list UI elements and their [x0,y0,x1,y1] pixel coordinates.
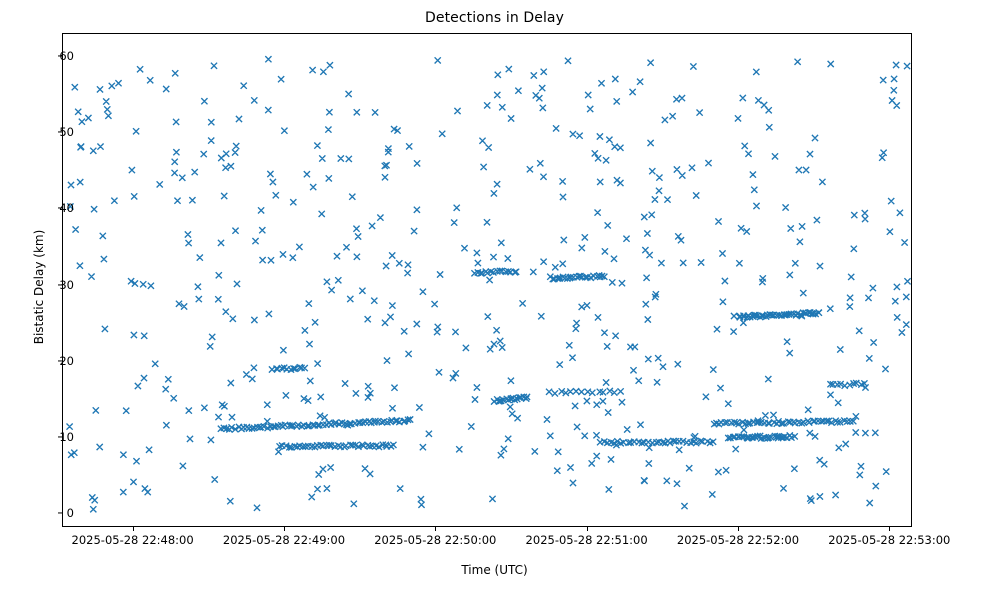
x-tick-mark [133,527,134,531]
y-tick-label-40: 40 [0,201,74,215]
y-tick-mark [58,208,62,209]
x-tick-mark [889,527,890,531]
x-tick-label-5: 2025-05-28 22:53:00 [828,533,950,547]
x-tick-mark [738,527,739,531]
x-tick-mark [435,527,436,531]
y-tick-mark [58,284,62,285]
x-tick-label-1: 2025-05-28 22:49:00 [223,533,345,547]
x-tick-mark [284,527,285,531]
y-tick-label-50: 50 [0,125,74,139]
x-tick-label-4: 2025-05-28 22:52:00 [677,533,799,547]
detection-marker-set [67,56,911,512]
scatter-markers [63,34,911,526]
x-tick-label-3: 2025-05-28 22:51:00 [526,533,648,547]
x-tick-label-2: 2025-05-28 22:50:00 [374,533,496,547]
x-axis-label: Time (UTC) [0,563,989,577]
y-tick-mark [58,513,62,514]
y-tick-label-60: 60 [0,49,74,63]
y-tick-mark [58,436,62,437]
y-tick-mark [58,55,62,56]
scatter-plot-area [63,34,911,526]
plot-axes-frame [62,33,912,527]
y-tick-label-30: 30 [0,278,74,292]
y-tick-label-0: 0 [0,506,74,520]
x-tick-label-0: 2025-05-28 22:48:00 [72,533,194,547]
x-tick-mark [587,527,588,531]
y-tick-mark [58,132,62,133]
chart-title: Detections in Delay [0,10,989,26]
y-tick-mark [58,360,62,361]
y-tick-label-10: 10 [0,430,74,444]
y-tick-label-20: 20 [0,354,74,368]
figure-canvas: Detections in Delay Bistatic Delay (km) … [0,0,989,590]
